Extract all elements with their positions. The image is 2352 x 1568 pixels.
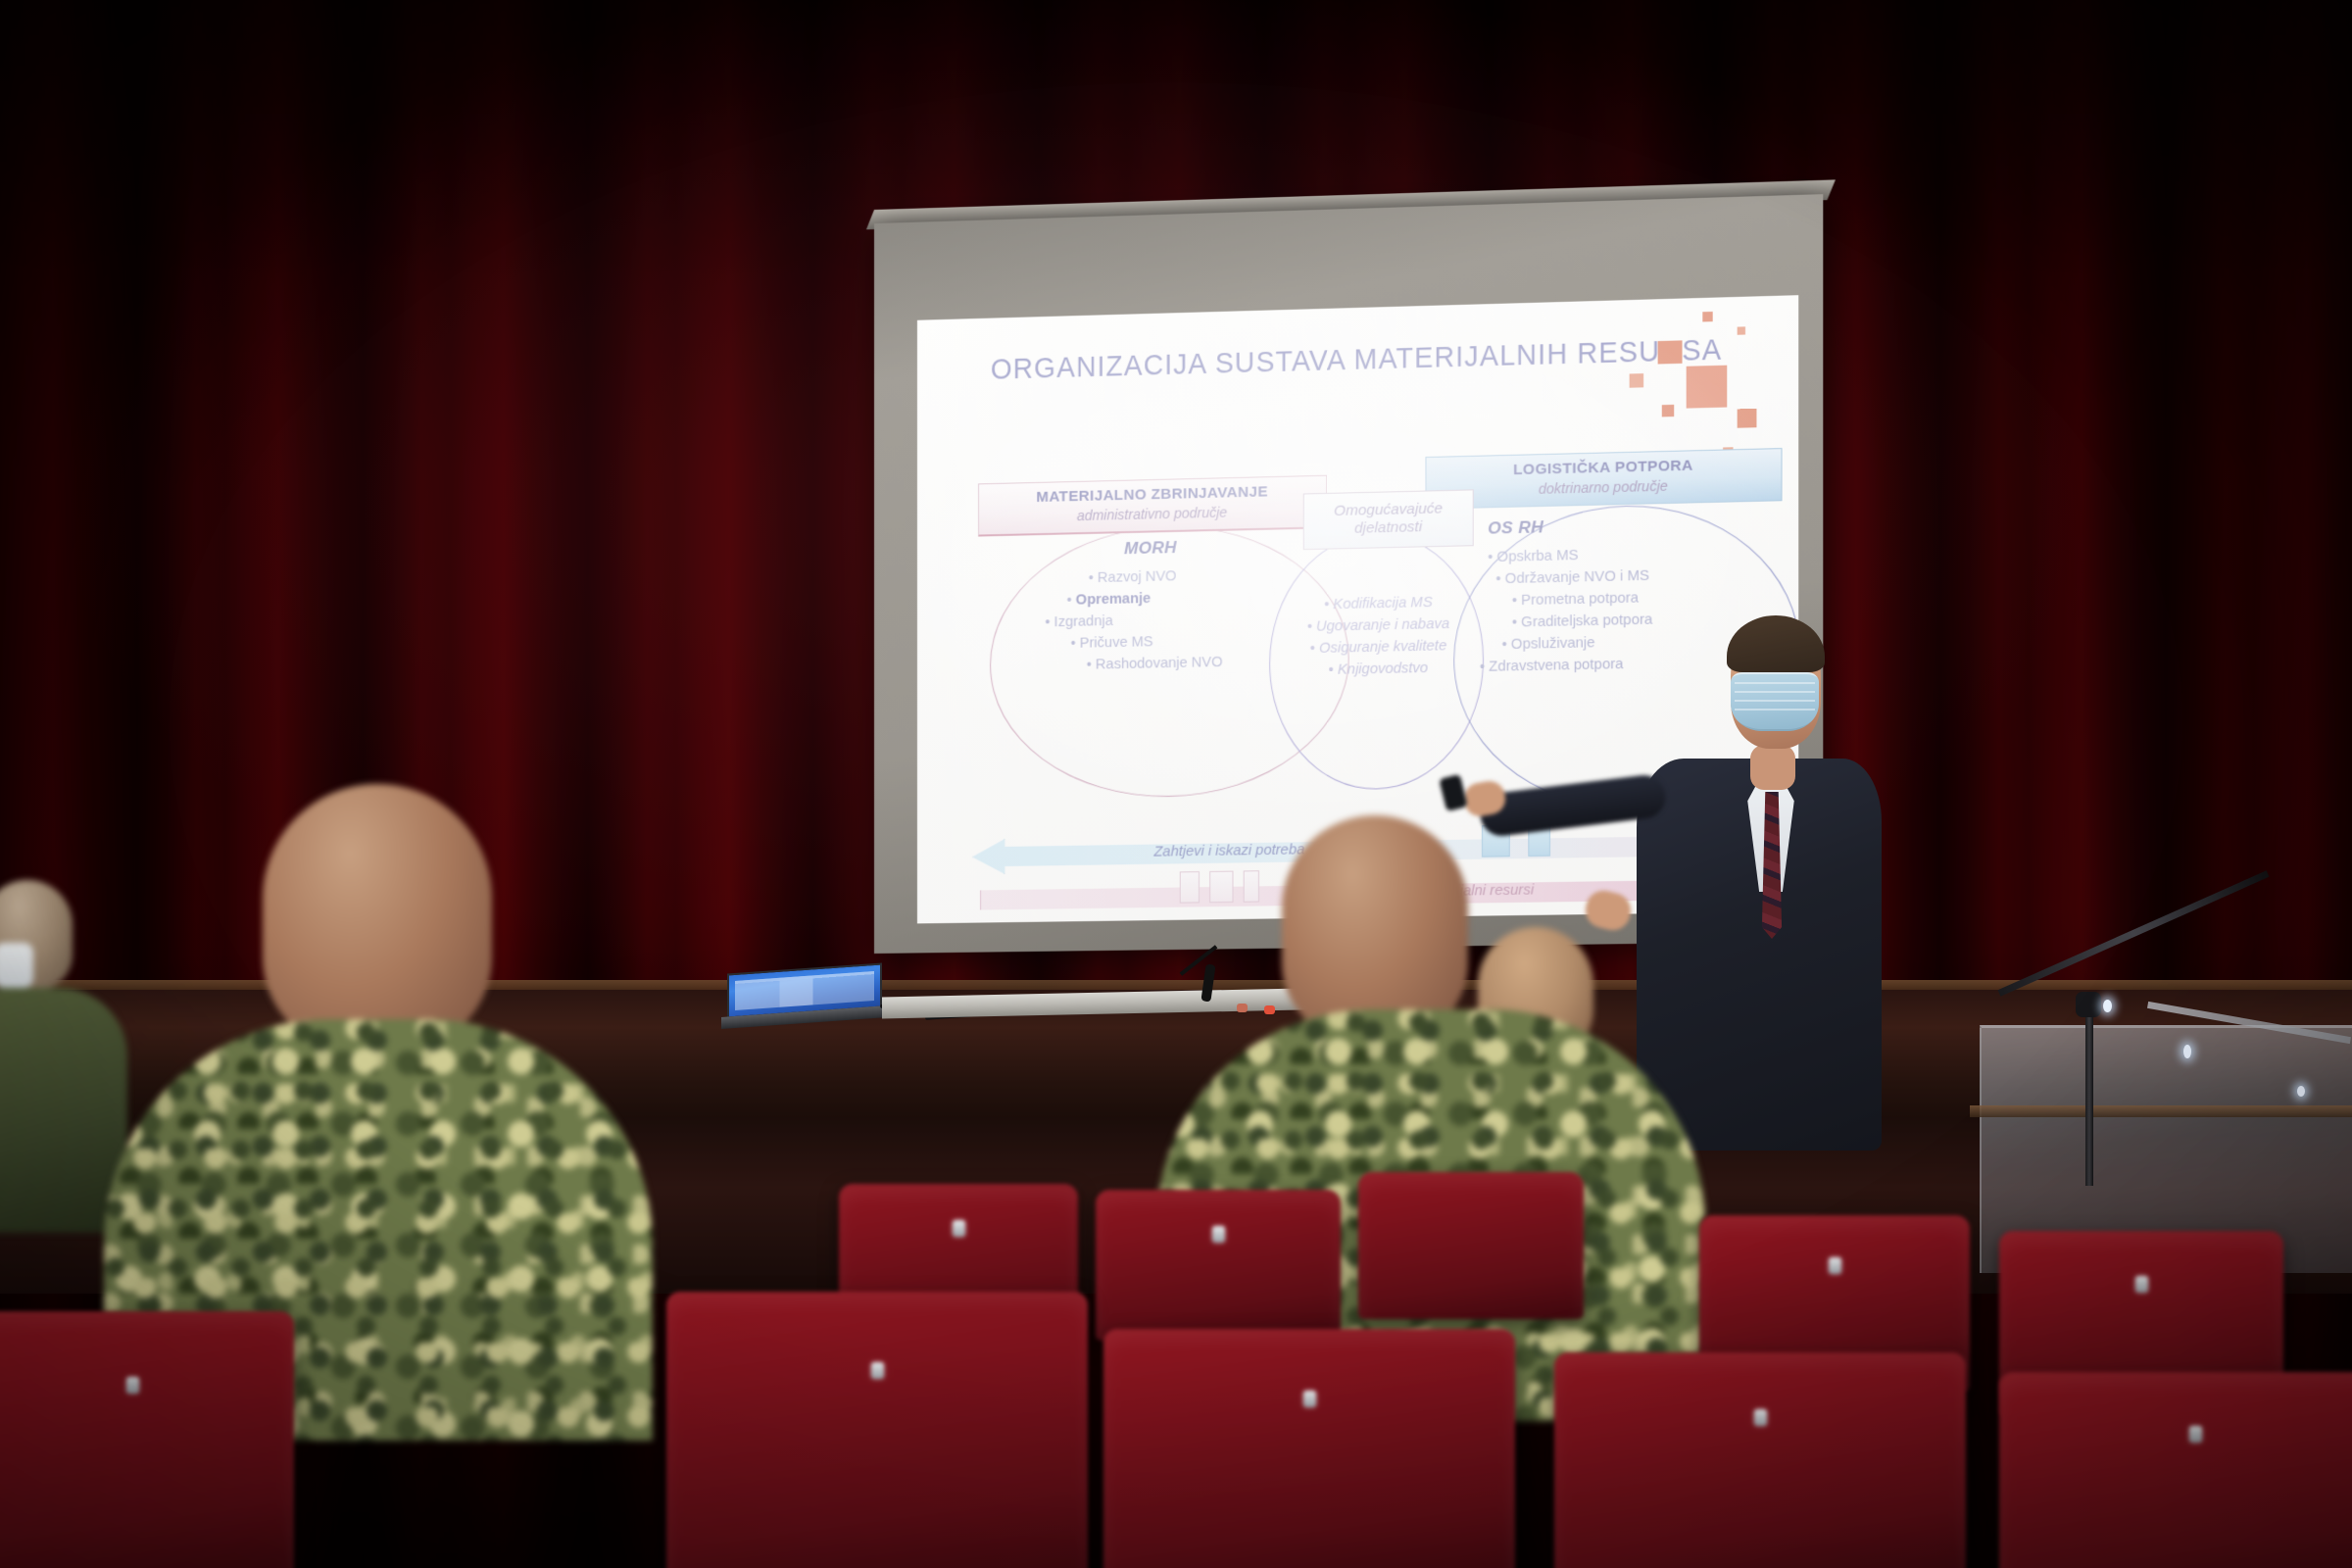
- connector-block: [1244, 870, 1259, 903]
- list-item: • Graditeljska potpora: [1480, 609, 1652, 634]
- theater-seat[interactable]: [1999, 1372, 2352, 1568]
- theater-seat[interactable]: [1096, 1190, 1341, 1341]
- face-mask-icon: [0, 943, 33, 988]
- list-item: • Zdravstvena potpora: [1480, 653, 1652, 678]
- presenter-laptop: [727, 962, 882, 1018]
- list-item: • Knjigovodstvo: [1275, 657, 1482, 682]
- banner-middle-line2: djelatnosti: [1310, 517, 1467, 539]
- theater-seat[interactable]: [1103, 1329, 1515, 1568]
- screenshot-root: ORGANIZACIJA SUSTAVA MATERIJALNIH RESURS…: [0, 0, 2352, 1568]
- banner-logisticka-potpora: LOGISTIČKA POTPORA doktrinarno područje: [1425, 448, 1782, 510]
- group-heading-morh: MORH: [1124, 538, 1177, 559]
- arrow-label-left: Zahtjevi i iskazi potreba: [1153, 842, 1304, 859]
- lectern-trim-bar: [1970, 1105, 2352, 1117]
- audience-head: [263, 784, 492, 1051]
- slide-title: ORGANIZACIJA SUSTAVA MATERIJALNIH RESURS…: [948, 332, 1767, 388]
- banner-omogucavajuce-djelatnosti: Omogućavajuće djelatnosti: [1303, 489, 1474, 550]
- group-heading-os-rh: OS RH: [1488, 517, 1543, 539]
- light-glint: [2183, 1045, 2191, 1058]
- laptop-screen-content: [735, 971, 874, 1010]
- theater-seat[interactable]: [1554, 1352, 1966, 1568]
- microphone-boom-head: [2076, 992, 2101, 1017]
- presenter: [1637, 600, 1931, 1149]
- presenter-hair: [1727, 615, 1825, 672]
- banner-materijalno-zbrinjavanje: MATERIJALNO ZBRINJAVANJE administrativno…: [978, 475, 1327, 537]
- bullet-list-morh: • Razvoj NVO • Opremanje • Izgradnja • P…: [1027, 564, 1222, 677]
- bullet-list-os-rh: • Opskrba MS • Održavanje NVO i MS • Pro…: [1480, 543, 1652, 678]
- connector-block: [1209, 871, 1233, 904]
- av-indicator-led: [1264, 1005, 1275, 1014]
- light-glint: [2297, 1086, 2305, 1097]
- list-item: • Rashodovanje NVO: [1027, 652, 1222, 677]
- surgical-mask-icon: [1731, 672, 1819, 731]
- connector-block: [1180, 871, 1200, 904]
- audience-head: [1282, 815, 1468, 1041]
- microphone-boom-pole: [2085, 1000, 2093, 1186]
- theater-seat[interactable]: [1358, 1172, 1584, 1319]
- av-indicator-led: [1237, 1004, 1248, 1012]
- presenter-neck: [1750, 745, 1795, 790]
- theater-seat[interactable]: [0, 1311, 294, 1568]
- bullet-list-enabling: • Kodifikacija MS • Ugovaranje i nabava …: [1275, 591, 1482, 683]
- theater-seat[interactable]: [666, 1292, 1088, 1568]
- light-glint: [2103, 1000, 2112, 1012]
